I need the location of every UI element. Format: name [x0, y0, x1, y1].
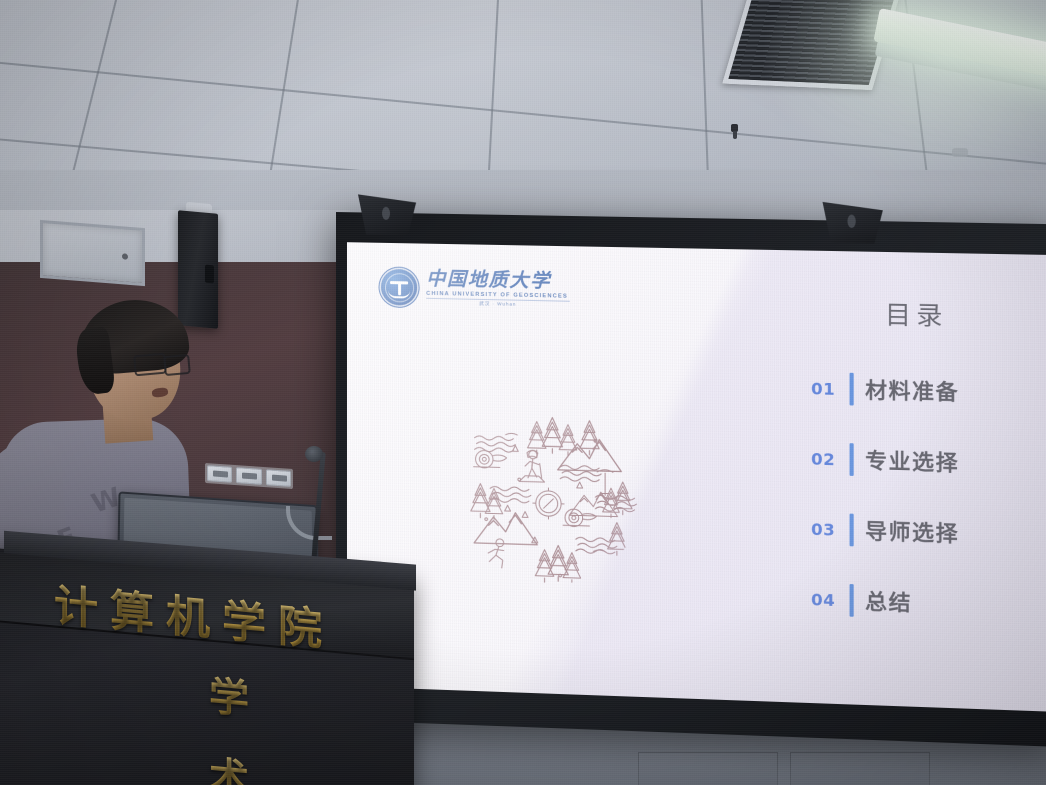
toc-item-03[interactable]: 03 导师选择 [792, 507, 1034, 557]
toc-item-04[interactable]: 04 总结 [792, 577, 1034, 628]
toc-item-02[interactable]: 02 专业选择 [792, 437, 1034, 486]
ceiling-sensor-icon [952, 148, 968, 157]
lecture-hall-scene: 中国地质大学 CHINA UNIVERSITY OF GEOSCIENCES 武… [0, 0, 1046, 785]
access-panel [40, 220, 145, 286]
toc-divider-bar [850, 514, 854, 547]
vent-louvers [728, 0, 893, 85]
power-outlet[interactable] [266, 469, 291, 487]
podium-sub-line: 学 [209, 664, 253, 726]
podium-department-label: 计算机学院 [54, 569, 334, 658]
university-wordmark: 中国地质大学 CHINA UNIVERSITY OF GEOSCIENCES 武… [426, 270, 570, 310]
toc-number: 03 [811, 519, 838, 539]
slide-content: 中国地质大学 CHINA UNIVERSITY OF GEOSCIENCES 武… [347, 242, 1046, 712]
toc-heading: 目录 [792, 293, 1034, 335]
toc-label: 专业选择 [865, 445, 959, 478]
university-emblem-icon [381, 269, 417, 306]
glasses-icon [134, 352, 190, 374]
university-logo: 中国地质大学 CHINA UNIVERSITY OF GEOSCIENCES 武… [381, 269, 570, 309]
cabinet-panel [790, 752, 930, 785]
toc-number: 04 [811, 589, 838, 609]
toc-label: 总结 [865, 586, 912, 618]
table-of-contents: 目录 01 材料准备 02 专业选择 03 导师选择 04 [792, 293, 1034, 688]
presentation-screen[interactable]: 中国地质大学 CHINA UNIVERSITY OF GEOSCIENCES 武… [336, 212, 1046, 747]
microphone-head-icon [305, 446, 323, 462]
vent-grille-icon [722, 0, 900, 90]
sprinkler-head-icon [729, 124, 740, 139]
outdoor-adventure-circle-illustration [451, 393, 646, 592]
toc-number: 02 [811, 449, 838, 469]
podium-sub-line: 术 [209, 744, 253, 785]
toc-divider-bar [850, 584, 854, 617]
toc-divider-bar [850, 443, 854, 476]
power-outlet[interactable] [236, 467, 261, 485]
toc-label: 材料准备 [865, 374, 959, 407]
podium: 计算机学院 学 术 [0, 548, 414, 785]
cabinet-panel [638, 752, 778, 785]
toc-label: 导师选择 [865, 515, 959, 548]
university-campus: 武汉 · Wuhan [426, 298, 570, 309]
toc-item-01[interactable]: 01 材料准备 [792, 366, 1034, 415]
toc-number: 01 [811, 379, 838, 399]
podium-sub-lines: 学 术 [209, 664, 253, 785]
university-name-cn: 中国地质大学 [426, 270, 570, 293]
toc-divider-bar [850, 373, 854, 406]
